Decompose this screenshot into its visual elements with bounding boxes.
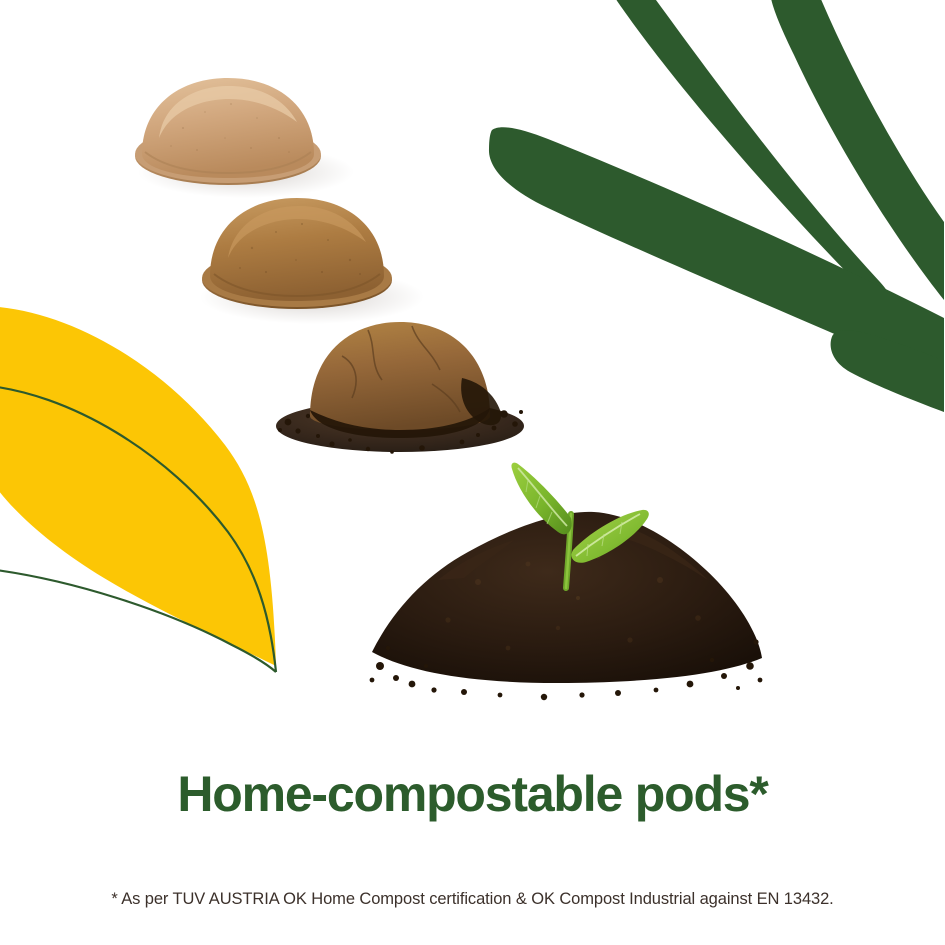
promo-canvas: Home-compostable pods* * As per TUV AUST… [0, 0, 945, 945]
pod-fresh [133, 68, 323, 188]
soil-mound-with-sprout [368, 452, 766, 702]
certification-footnote: * As per TUV AUSTRIA OK Home Compost cer… [0, 890, 945, 909]
page-title: Home-compostable pods* [0, 768, 945, 821]
pod-aging [200, 186, 395, 311]
pod-breaking-down [272, 304, 527, 454]
